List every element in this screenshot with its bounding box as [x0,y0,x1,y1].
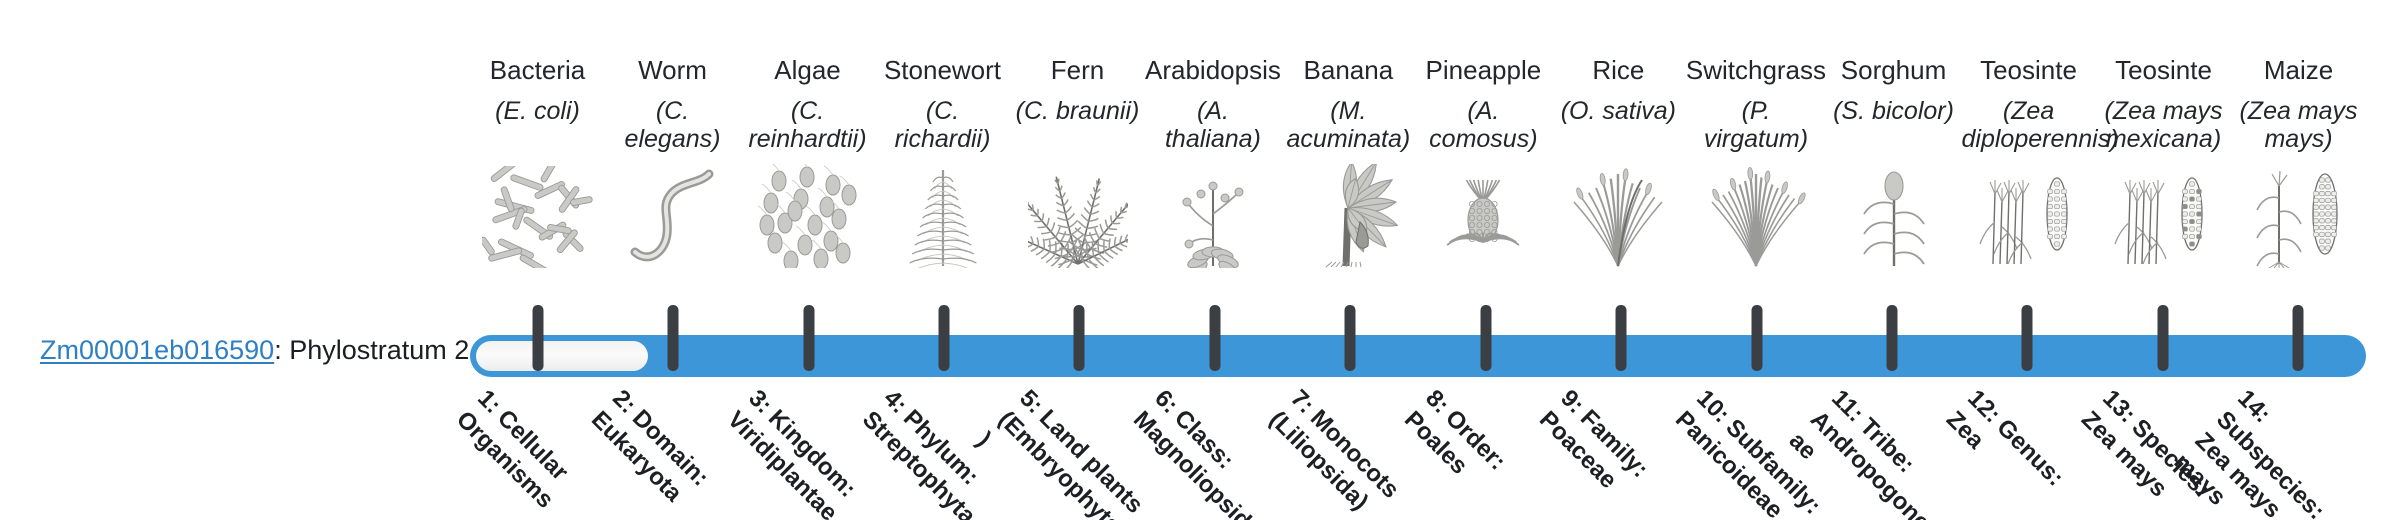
teosinte-diploperennis-illustration [1966,164,2092,268]
species-column: Teosinte(Zea mays mexicana) [2096,0,2231,320]
taxonomy-rank-row: 1: Cellular Organisms2: Domain: Eukaryot… [470,382,2366,520]
species-common-name: Pineapple [1426,55,1542,85]
rank-label: 2: Domain: Eukaryota [585,384,746,520]
rank-label: 6: Class: Magnoliopsida [1127,384,1288,520]
species-column: Sorghum(S. bicolor) [1826,0,1961,320]
species-common-name: Algae [774,55,841,85]
rank-cell: 14: Subspecies: Zea mays mays [2230,382,2365,520]
species-scientific-name: (Zea mays mays) [2232,97,2366,153]
rank-cell: 5: Land plants (Embryophyta) [1012,382,1147,520]
species-scientific-name: (C. reinhardtii) [741,97,875,153]
species-common-name: Worm [638,55,707,85]
bacteria-illustration [475,164,601,268]
progress-track [470,335,2366,377]
species-column: Banana(M. acuminata) [1281,0,1416,320]
species-column: Pineapple(A. comosus) [1416,0,1551,320]
algae-illustration [745,164,871,268]
species-column: Bacteria(E. coli) [470,0,605,320]
switchgrass-illustration [1693,164,1819,268]
rank-cell: 6: Class: Magnoliopsida [1147,382,1282,520]
stonewort-illustration [880,164,1006,268]
rank-cell: 3: Kingdom: Viridiplantae [741,382,876,520]
gene-id-link[interactable]: Zm00001eb016590 [40,335,274,365]
species-column: Fern(C. braunii) [1010,0,1145,320]
species-column: Algae(C. reinhardtii) [740,0,875,320]
species-common-name: Teosinte [2115,55,2212,85]
species-column: Stonewort(C. richardii) [875,0,1010,320]
species-common-name: Stonewort [884,55,1001,85]
sorghum-illustration [1831,164,1957,268]
species-scientific-name: (P. virgatum) [1689,97,1823,153]
rank-cell: 12: Genus: Zea [1960,382,2095,520]
teosinte-mexicana-illustration [2101,164,2227,268]
species-scientific-name: (Zea mays mexicana) [2097,97,2231,153]
fern-illustration [1015,164,1141,268]
species-scientific-name: (C. richardii) [876,97,1010,153]
species-scientific-name: (E. coli) [495,97,580,125]
species-common-name: Arabidopsis [1145,55,1281,85]
phylostratum-progress-bar[interactable] [470,335,2366,377]
phylostratum-value-text: Phylostratum 2 [289,335,469,365]
species-column: Switchgrass(P. virgatum) [1686,0,1826,320]
rank-cell: 11: Tribe: Andropogoneae [1824,382,1959,520]
rank-label: 9: Family: Poaceae [1533,384,1694,520]
rank-cell: 2: Domain: Eukaryota [605,382,740,520]
species-common-name: Switchgrass [1686,55,1826,85]
banana-illustration [1285,164,1411,268]
species-common-name: Banana [1304,55,1394,85]
maize-illustration [2236,164,2362,268]
species-scientific-name: (C. elegans) [606,97,740,153]
species-common-name: Sorghum [1841,55,1947,85]
species-common-name: Maize [2264,55,2333,85]
species-column: Worm(C. elegans) [605,0,740,320]
species-scientific-name: (A. thaliana) [1146,97,1280,153]
species-scientific-name: (C. braunii) [1016,97,1140,125]
species-column: Arabidopsis(A. thaliana) [1145,0,1281,320]
species-common-name: Teosinte [1980,55,2077,85]
species-common-name: Bacteria [490,55,585,85]
rank-label: 7: Monocots (Liliopsida) [1262,384,1423,520]
rank-label: 8: Order: Poales [1398,384,1559,520]
gene-phylostratum-label: Zm00001eb016590: Phylostratum 2 [40,334,460,366]
species-common-name: Fern [1051,55,1104,85]
species-scientific-name: (O. sativa) [1561,97,1676,125]
gene-label-separator: : [274,335,289,365]
species-scientific-name: (M. acuminata) [1281,97,1415,153]
rank-label: 12: Genus: Zea [1939,384,2100,520]
rice-illustration [1555,164,1681,268]
worm-illustration [610,164,736,268]
species-header-strip: Bacteria(E. coli)Worm(C. elegans)Algae(C… [470,0,2366,320]
rank-label: 1: Cellular Organisms [450,384,611,520]
species-scientific-name: (S. bicolor) [1833,97,1954,125]
species-column: Maize(Zea mays mays) [2231,0,2366,320]
rank-cell: 8: Order: Poales [1418,382,1553,520]
phylostratum-timeline: Zm00001eb016590: Phylostratum 2 Bacteria… [0,0,2400,520]
species-scientific-name: (Zea diploperennis) [1962,97,2096,153]
species-column: Teosinte(Zea diploperennis) [1961,0,2096,320]
species-common-name: Rice [1592,55,1644,85]
pineapple-illustration [1420,164,1546,268]
rank-cell: 7: Monocots (Liliopsida) [1283,382,1418,520]
rank-cell: 9: Family: Poaceae [1553,382,1688,520]
species-column: Rice(O. sativa) [1551,0,1686,320]
species-scientific-name: (A. comosus) [1416,97,1550,153]
progress-unfilled-segment [476,341,648,371]
rank-cell: 1: Cellular Organisms [470,382,605,520]
arabidopsis-illustration [1150,164,1276,268]
rank-label: 3: Kingdom: Viridiplantae [720,384,881,520]
